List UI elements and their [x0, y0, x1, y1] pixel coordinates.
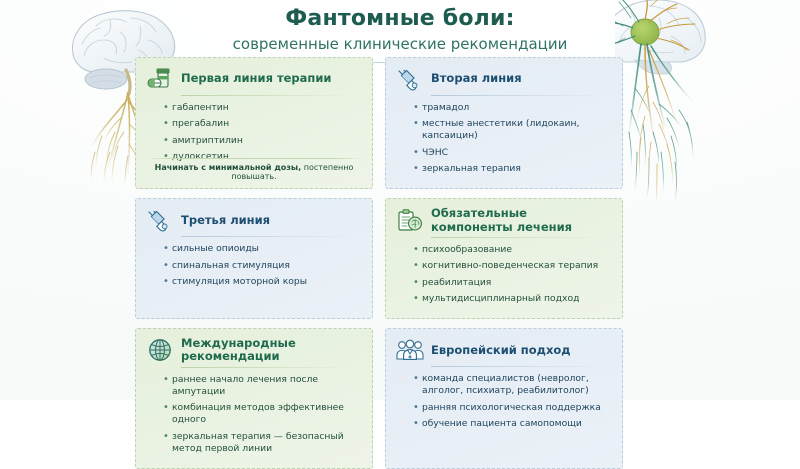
card-title-rule — [181, 236, 362, 237]
card-title: Третья линия — [181, 214, 270, 227]
card-title-rule — [431, 237, 612, 238]
card-third-line: Третья линия сильные опиоиды спинальная … — [135, 198, 373, 319]
list-item: ранняя психологическая поддержка — [422, 402, 612, 414]
medical-team-icon — [396, 337, 424, 363]
card-first-line-therapy: Первая линия терапии габапентин прегабал… — [135, 57, 373, 189]
card-item-list: раннее начало лечения после ампутации ко… — [146, 374, 362, 455]
list-item: амитриптилин — [172, 135, 362, 147]
footnote-strong: Начинать с минимальной дозы, — [155, 163, 302, 172]
list-item: мультидисциплинарный подход — [422, 293, 612, 305]
list-item: когнитивно-поведенческая терапия — [422, 260, 612, 272]
card-title-rule — [431, 366, 612, 367]
syringe-icon — [396, 66, 424, 92]
card-title: Обязательные компоненты лечения — [431, 207, 612, 233]
card-item-list: габапентин прегабалин амитриптилин дулок… — [146, 102, 362, 163]
list-item: обучение пациента самопомощи — [422, 418, 612, 430]
syringe-icon — [146, 207, 174, 233]
card-header: Вторая линия — [396, 66, 612, 92]
list-item: местные анестетики (лидокаин, капсаицин) — [422, 118, 612, 142]
list-item: габапентин — [172, 102, 362, 114]
list-item: психообразование — [422, 244, 612, 256]
card-european-approach: Европейский подход команда специалистов … — [385, 328, 623, 469]
card-title: Международные рекомендации — [181, 337, 362, 363]
card-item-list: сильные опиоиды спинальная стимуляция ст… — [146, 243, 362, 288]
card-item-list: трамадол местные анестетики (лидокаин, к… — [396, 102, 612, 175]
card-title: Первая линия терапии — [181, 72, 331, 85]
card-second-line: Вторая линия трамадол местные анестетики… — [385, 57, 623, 189]
list-item: прегабалин — [172, 118, 362, 130]
card-header: Первая линия терапии — [146, 66, 362, 92]
infographic-header: Фантомные боли: современные клинические … — [0, 0, 800, 63]
card-header: Европейский подход — [396, 337, 612, 363]
card-header: Третья линия — [146, 207, 362, 233]
list-item: комбинация методов эффективнее одного — [172, 402, 362, 426]
list-item: зеркальная терапия — безопасный метод пе… — [172, 431, 362, 455]
card-title-rule — [181, 367, 362, 368]
list-item: спинальная стимуляция — [172, 260, 362, 272]
list-item: реабилитация — [422, 277, 612, 289]
card-title: Вторая линия — [431, 72, 522, 85]
page-subtitle: современные клинические рекомендации — [0, 35, 800, 53]
card-item-list: команда специалистов (невролог, алголог,… — [396, 373, 612, 430]
list-item: раннее начало лечения после ампутации — [172, 374, 362, 398]
card-header: Обязательные компоненты лечения — [396, 207, 612, 233]
list-item: зеркальная терапия — [422, 163, 612, 175]
card-title-rule — [431, 95, 612, 96]
footnote-divider — [146, 158, 362, 159]
card-international-recommendations: Международные рекомендации раннее начало… — [135, 328, 373, 469]
card-footnote-wrap: Начинать с минимальной дозы, постепенно … — [146, 158, 362, 181]
globe-icon — [146, 337, 174, 363]
list-item: стимуляция моторной коры — [172, 276, 362, 288]
list-item: сильные опиоиды — [172, 243, 362, 255]
card-mandatory-components: Обязательные компоненты лечения психообр… — [385, 198, 623, 319]
list-item: трамадол — [422, 102, 612, 114]
clipboard-brain-icon — [396, 208, 424, 234]
recommendation-card-grid: Первая линия терапии габапентин прегабал… — [135, 57, 650, 469]
pill-bottle-icon — [146, 66, 174, 92]
card-footnote: Начинать с минимальной дозы, постепенно … — [146, 163, 362, 181]
card-item-list: психообразование когнитивно-поведенческа… — [396, 244, 612, 305]
card-title-rule — [181, 95, 362, 96]
card-header: Международные рекомендации — [146, 337, 362, 363]
list-item: ЧЭНС — [422, 147, 612, 159]
list-item: команда специалистов (невролог, алголог,… — [422, 373, 612, 397]
card-title: Европейский подход — [431, 344, 571, 357]
page-title: Фантомные боли: — [0, 6, 800, 31]
